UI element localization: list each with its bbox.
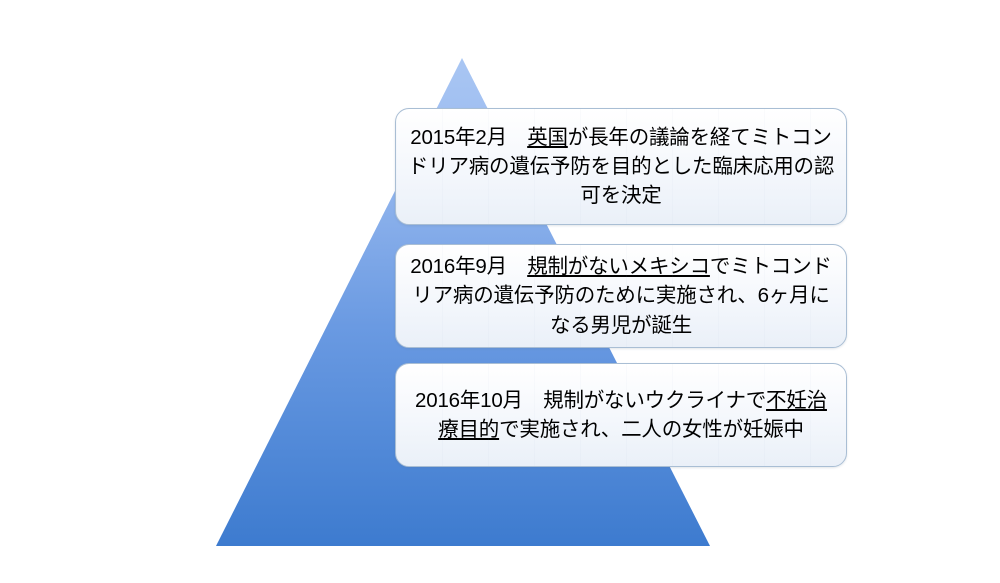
tier-3-segment-plain-3: で実施され、二人の女性が妊娠中 (499, 418, 804, 441)
tier-3-segment-plain-1: 2016年10月 規制がないウクライナで (415, 389, 766, 412)
tier-1-segment-plain-1: 2015年2月 (410, 126, 527, 149)
pyramid-tier-2-text: 2016年9月 規制がないメキシコでミトコンドリア病の遺伝予防のために実施され、… (396, 252, 846, 339)
pyramid-tier-3-box[interactable]: 2016年10月 規制がないウクライナで不妊治療目的で実施され、二人の女性が妊娠… (395, 363, 847, 467)
pyramid-tier-1-box[interactable]: 2015年2月 英国が長年の議論を経てミトコンドリア病の遺伝予防を目的とした臨床… (395, 108, 847, 225)
slide-canvas: 2015年2月 英国が長年の議論を経てミトコンドリア病の遺伝予防を目的とした臨床… (0, 0, 1000, 583)
tier-2-segment-plain-1: 2016年9月 (410, 255, 527, 278)
pyramid-tier-3-text: 2016年10月 規制がないウクライナで不妊治療目的で実施され、二人の女性が妊娠… (396, 386, 846, 444)
pyramid-tier-2-box[interactable]: 2016年9月 規制がないメキシコでミトコンドリア病の遺伝予防のために実施され、… (395, 244, 847, 348)
tier-1-segment-underlined-2: 英国 (527, 126, 568, 149)
tier-2-segment-underlined-2: 規制がないメキシコ (527, 255, 710, 278)
pyramid-tier-1-text: 2015年2月 英国が長年の議論を経てミトコンドリア病の遺伝予防を目的とした臨床… (396, 123, 846, 210)
